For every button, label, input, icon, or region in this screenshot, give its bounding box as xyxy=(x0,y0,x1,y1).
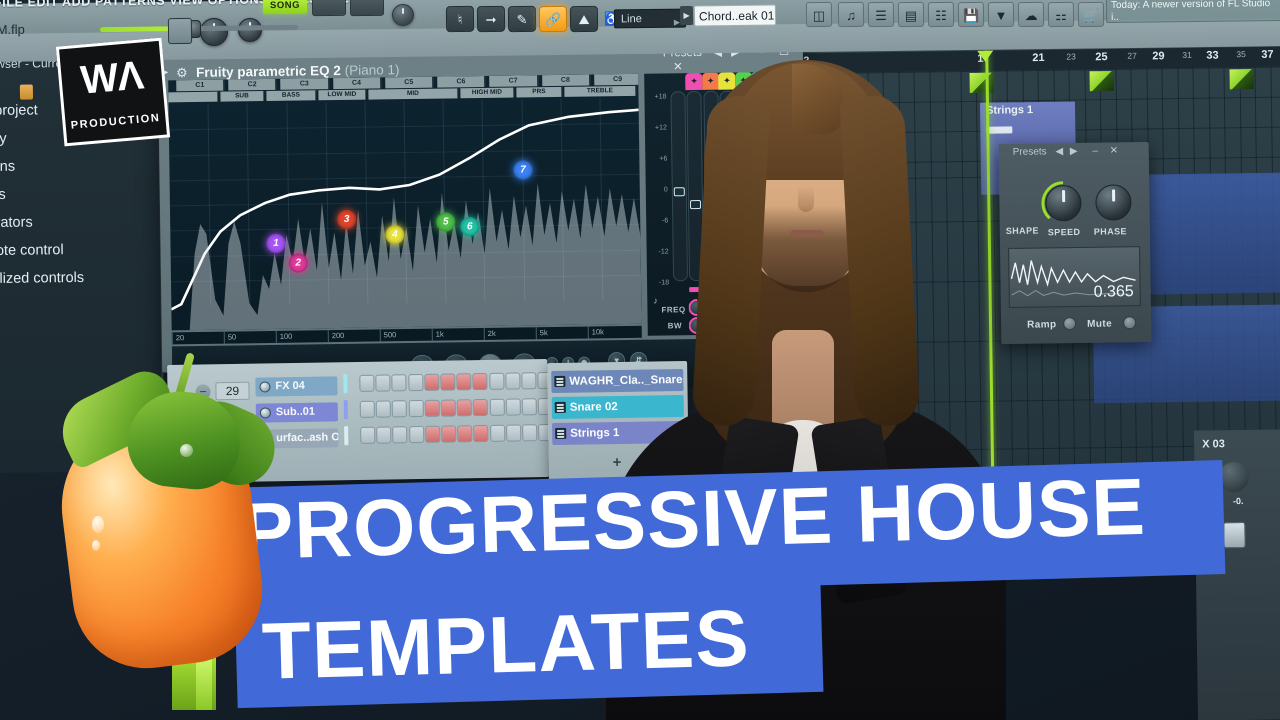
wa-production-logo: WΛ PRODUCTION xyxy=(56,38,170,147)
step-button[interactable] xyxy=(376,400,391,417)
browser-item-specialized-controls[interactable]: ialized controls xyxy=(0,270,84,287)
minimize-icon[interactable]: – xyxy=(1092,146,1098,157)
plugin-toolbar-icon[interactable]: ☁ xyxy=(1018,2,1044,27)
lfo-plugin-window[interactable]: Presets ◀ ▶ – ✕ SHAPE SPEED PHASE 0.365 … xyxy=(999,142,1152,344)
step-button[interactable] xyxy=(425,426,440,443)
freq-tick-200: 200 xyxy=(328,329,380,342)
draw-tool-button[interactable]: ➞ xyxy=(477,6,505,32)
step-button[interactable] xyxy=(409,426,424,443)
eq-node-3[interactable]: 3 xyxy=(337,210,356,229)
eq-band-high-mid: HIGH MID xyxy=(460,88,514,99)
eq-graph[interactable]: C1C2C3C4C5C6C7C8C9 SUBBASSLOW MIDMIDHIGH… xyxy=(168,74,641,331)
step-button[interactable] xyxy=(505,372,520,389)
wrapper-toolbar-icon[interactable]: ⚏ xyxy=(1048,2,1074,27)
fruit-highlight xyxy=(92,540,100,551)
step-button[interactable] xyxy=(522,424,537,441)
lfo-mute-toggle[interactable] xyxy=(1123,316,1136,329)
eq-key-c6: C6 xyxy=(437,76,485,88)
lfo-value: 0.365 xyxy=(1094,283,1134,302)
step-button[interactable] xyxy=(359,375,374,392)
playlist-bar-33: 33 xyxy=(1206,49,1218,61)
master-pitch-knob[interactable] xyxy=(200,18,228,46)
mute-tool-button[interactable]: ⛰ xyxy=(570,6,598,32)
pattern-icon xyxy=(555,428,566,439)
paint-tool-button[interactable]: ✎ xyxy=(508,6,536,32)
step-button[interactable] xyxy=(441,425,456,442)
step-button[interactable] xyxy=(441,399,456,416)
step-button[interactable] xyxy=(457,425,472,442)
step-button[interactable] xyxy=(440,373,455,390)
eq-spectrum-analyzer xyxy=(169,98,642,331)
browser-item-effects[interactable]: cts xyxy=(0,187,6,203)
lfo-ramp-label: Ramp xyxy=(1027,319,1057,330)
file-icon xyxy=(20,84,33,99)
step-button[interactable] xyxy=(473,373,488,390)
mixer-value: -0. xyxy=(1233,496,1244,506)
step-button[interactable] xyxy=(376,426,391,443)
eq-band-sub: SUB xyxy=(220,91,264,102)
freq-tick-1k: 1k xyxy=(432,328,484,341)
pattern-mode-button[interactable] xyxy=(312,0,346,16)
eq-key-c4: C4 xyxy=(333,77,381,89)
eq-band-low-mid: LOW MID xyxy=(318,90,366,101)
eq-band-mid: MID xyxy=(368,88,458,99)
freq-tick-50: 50 xyxy=(224,331,276,344)
step-button[interactable] xyxy=(424,400,439,417)
eq-band-prs: PRS xyxy=(516,87,562,98)
browser-item-remote-control[interactable]: note control xyxy=(0,242,64,259)
step-button[interactable] xyxy=(392,426,407,443)
step-button[interactable] xyxy=(490,425,505,442)
lfo-speed-knob[interactable] xyxy=(1045,185,1081,221)
step-button[interactable] xyxy=(408,400,423,417)
eq-key-c8: C8 xyxy=(542,74,590,86)
browser-item-current-project[interactable]: t project xyxy=(0,102,38,119)
step-button[interactable] xyxy=(408,374,423,391)
browser-item-history[interactable]: ory xyxy=(0,131,7,147)
step-button[interactable] xyxy=(473,425,488,442)
step-button[interactable] xyxy=(375,374,390,391)
playlist-bar-31: 31 xyxy=(1182,50,1192,60)
step-button[interactable] xyxy=(489,399,504,416)
freq-tick-2k: 2k xyxy=(484,327,536,340)
step-row-indicator xyxy=(344,400,348,419)
eq-key-c5: C5 xyxy=(385,77,433,89)
step-button[interactable] xyxy=(473,399,488,416)
step-row-indicator xyxy=(343,374,347,393)
lfo-scope-display: 0.365 xyxy=(1008,246,1141,308)
step-button[interactable] xyxy=(457,399,472,416)
step-button[interactable] xyxy=(456,373,471,390)
secondary-knob[interactable] xyxy=(392,4,414,26)
eq-band-bass: BASS xyxy=(266,90,316,101)
playlist-bar-37: 37 xyxy=(1261,49,1273,61)
step-button[interactable] xyxy=(392,400,407,417)
step-button[interactable] xyxy=(521,372,536,389)
song-mode-button[interactable]: SONG xyxy=(263,0,307,14)
preset-prev-icon[interactable]: ◀ xyxy=(1055,146,1063,157)
step-row-indicator xyxy=(344,426,348,445)
eq-plugin-instance: (Piano 1) xyxy=(345,62,400,78)
close-icon[interactable]: ✕ xyxy=(1110,145,1119,156)
eq-key-c2: C2 xyxy=(228,79,276,91)
step-button[interactable] xyxy=(505,398,520,415)
freq-tick-5k: 5k xyxy=(536,327,588,340)
shop-toolbar-icon[interactable]: 🛒 xyxy=(1078,2,1104,27)
eq-key-c1: C1 xyxy=(176,80,224,92)
playlist-bar-21: 21 xyxy=(1032,52,1044,64)
browser-item-patterns[interactable]: erns xyxy=(0,159,15,175)
transport-extra-button[interactable] xyxy=(350,0,384,16)
mixer-insert-label: X 03 xyxy=(1202,438,1225,450)
freq-tick-20: 20 xyxy=(172,332,224,345)
lfo-mute-label: Mute xyxy=(1087,318,1112,329)
step-button[interactable] xyxy=(424,374,439,391)
eq-key-c7: C7 xyxy=(489,75,537,87)
playlist-bar-25: 25 xyxy=(1095,51,1107,63)
piano-roll-button[interactable]: ♮ xyxy=(446,6,474,32)
mouth xyxy=(790,230,824,237)
browser-item-generators[interactable]: erators xyxy=(0,215,33,232)
lfo-ramp-toggle[interactable] xyxy=(1063,317,1076,330)
step-button[interactable] xyxy=(360,401,375,418)
link-tool-button[interactable]: 🔗 xyxy=(539,6,567,32)
fruit-leaf-dewdrop xyxy=(180,444,193,457)
eq-band-none xyxy=(168,92,218,103)
playlist-bar-23: 23 xyxy=(1066,51,1076,61)
lfo-phase-knob[interactable] xyxy=(1095,184,1131,220)
playlist-bar-27: 27 xyxy=(1127,51,1137,61)
playlist-bar-29: 29 xyxy=(1152,50,1164,62)
lfo-presets-label[interactable]: Presets xyxy=(1013,146,1047,157)
fruit-highlight xyxy=(92,516,104,533)
mixer-volume-fader[interactable] xyxy=(1223,522,1245,548)
playlist-clip-marker[interactable] xyxy=(1230,69,1254,89)
pattern-icon xyxy=(555,402,566,413)
step-button[interactable] xyxy=(522,398,537,415)
title-line2: TEMPLATES xyxy=(261,586,824,702)
hint-bar: Today: A newer version of FL Studio i.. xyxy=(1106,0,1280,23)
freq-tick-500: 500 xyxy=(380,329,432,342)
eq-node-4[interactable]: 4 xyxy=(385,225,404,244)
gear-icon[interactable]: ⚙ xyxy=(176,65,189,78)
playlist-bar-35: 35 xyxy=(1236,49,1246,59)
lfo-phase-label: PHASE xyxy=(1094,226,1127,236)
project-filename: PM.flp xyxy=(0,22,25,37)
fl-studio-fruit-logo xyxy=(58,348,288,678)
nose xyxy=(798,186,814,212)
preset-next-icon[interactable]: ▶ xyxy=(1070,146,1078,157)
step-button[interactable] xyxy=(489,373,504,390)
step-button[interactable] xyxy=(392,374,407,391)
screenshot-root: Playlist - Arrangement ▸ Chord Break 01 … xyxy=(0,0,1280,720)
lfo-window-titlebar[interactable]: Presets ◀ ▶ – ✕ xyxy=(1013,145,1119,157)
step-button[interactable] xyxy=(360,427,375,444)
eq-key-c3: C3 xyxy=(281,78,329,90)
metronome-button[interactable] xyxy=(168,18,192,44)
playlist-clip-marker[interactable] xyxy=(1090,71,1114,91)
lfo-speed-label: SPEED xyxy=(1048,227,1081,237)
freq-tick-100: 100 xyxy=(276,330,328,343)
step-button[interactable] xyxy=(506,424,521,441)
pattern-icon xyxy=(554,376,565,387)
